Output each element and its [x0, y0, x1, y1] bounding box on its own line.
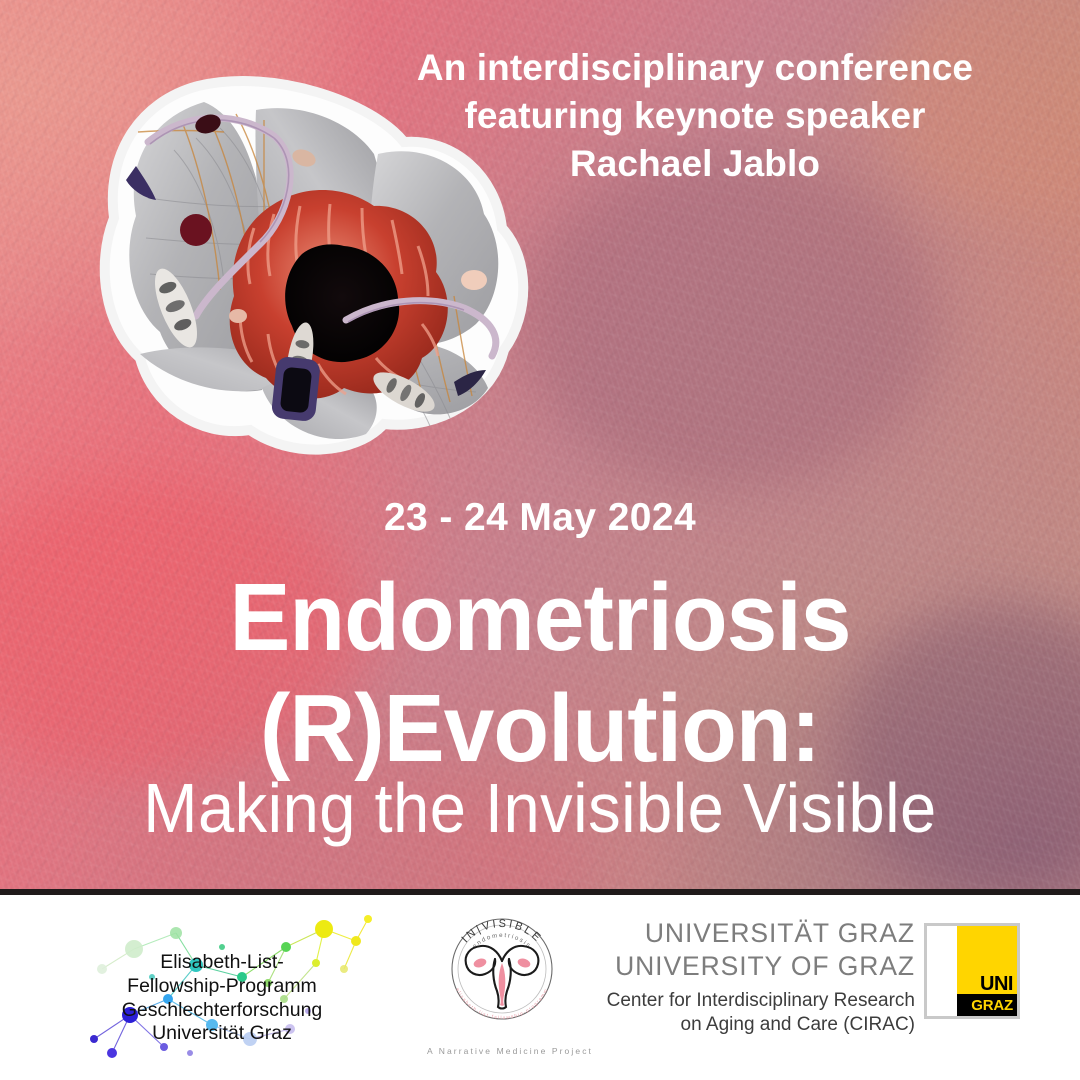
badge-arc-top: IN|VISIBLE: [459, 918, 544, 945]
ell-line-4: Universität Graz: [72, 1022, 372, 1046]
title-line-1: Endometriosis: [27, 562, 1053, 673]
uni-graz-names: UNIVERSITÄT GRAZ UNIVERSITY OF GRAZ Cent…: [607, 917, 915, 1037]
cirac-line-2: on Aging and Care (CIRAC): [607, 1013, 915, 1037]
ell-line-2: Fellowship-Programm: [72, 975, 372, 999]
invisible-badge: IN|VISIBLE endometriosis elisabeth-list-…: [436, 903, 568, 1035]
uni-graz-mark: UNI GRAZ: [924, 923, 1020, 1019]
artwork-red-form: [230, 190, 448, 399]
uni-name-en: UNIVERSITY OF GRAZ: [607, 950, 915, 983]
headline-line-3: Rachael Jablo: [330, 140, 1060, 188]
headline-block: An interdisciplinary conference featurin…: [330, 44, 1060, 188]
logo-elisabeth-list-fellowship: Elisabeth-List- Fellowship-Programm Gesc…: [72, 907, 372, 1067]
poster-subtitle: Making the Invisible Visible: [38, 768, 1042, 848]
conference-poster: An interdisciplinary conference featurin…: [0, 0, 1080, 1080]
svg-text:IN|VISIBLE: IN|VISIBLE: [459, 918, 544, 945]
logo-elisabeth-list-text: Elisabeth-List- Fellowship-Programm Gesc…: [72, 951, 372, 1046]
cirac-line-1: Center for Interdisciplinary Research: [607, 989, 915, 1013]
mark-uni-text: UNI: [980, 974, 1013, 994]
artwork-shell: [461, 270, 487, 290]
uni-name-de: UNIVERSITÄT GRAZ: [607, 917, 915, 950]
event-dates: 23 - 24 May 2024: [0, 496, 1080, 540]
poster-title: Endometriosis (R)Evolution:: [27, 562, 1053, 785]
artwork-shell: [229, 309, 247, 323]
ell-line-3: Geschlechterforschung: [72, 999, 372, 1023]
headline-line-2: featuring keynote speaker: [330, 92, 1060, 140]
sponsor-footer: Elisabeth-List- Fellowship-Programm Gesc…: [0, 895, 1080, 1080]
logo-university-of-graz: UNIVERSITÄT GRAZ UNIVERSITY OF GRAZ Cent…: [600, 917, 1020, 1057]
badge-caption: A Narrative Medicine Project: [410, 1046, 610, 1056]
mark-graz-text: GRAZ: [971, 998, 1013, 1013]
headline-line-1: An interdisciplinary conference: [330, 44, 1060, 92]
ell-line-1: Elisabeth-List-: [72, 951, 372, 975]
artwork-berry: [180, 214, 212, 246]
